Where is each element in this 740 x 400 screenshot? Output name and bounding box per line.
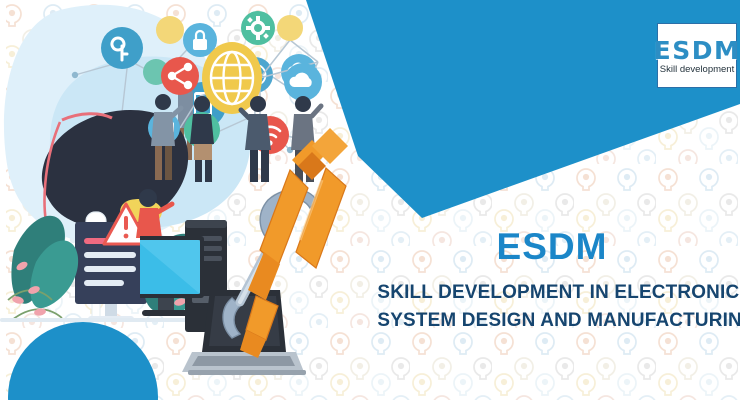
illustration-network-panel xyxy=(140,0,400,400)
headline-block: ESDM SKILL DEVELOPMENT IN ELECTRONICS SY… xyxy=(372,228,732,334)
subtitle-line-1: SKILL DEVELOPMENT IN ELECTRONICS xyxy=(377,279,726,307)
logo-acronym: ESDM xyxy=(654,38,740,63)
share-node-icon xyxy=(161,57,199,95)
esdm-logo[interactable]: ESDM Skill development xyxy=(657,23,737,88)
logo-tagline: Skill development xyxy=(660,65,734,75)
cloud-node-icon-right xyxy=(284,63,322,101)
esdm-banner: ESDM Skill development ESDM SKILL DEVELO… xyxy=(0,0,740,400)
person-figure-2 xyxy=(190,96,214,182)
key-node-icon xyxy=(101,27,143,69)
page-title: ESDM xyxy=(372,228,732,265)
subtitle-line-2: SYSTEM DESIGN AND MANUFACTURING xyxy=(377,307,726,335)
gear-node-icon xyxy=(241,11,275,45)
